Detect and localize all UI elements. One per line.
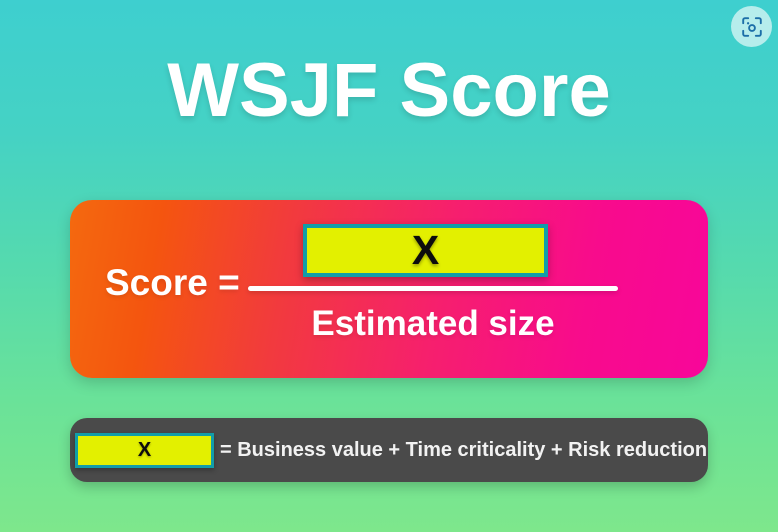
legend-bar: X = Business value + Time criticality + … bbox=[70, 418, 708, 482]
legend-definition: = Business value + Time criticality + Ri… bbox=[220, 437, 707, 463]
wsjf-formula-card: Score = X Estimated size bbox=[70, 200, 708, 378]
legend-highlight-box: X bbox=[75, 433, 214, 468]
lens-scan-button[interactable] bbox=[731, 6, 772, 47]
page-title: WSJF Score bbox=[0, 48, 778, 134]
lens-scan-icon bbox=[740, 15, 764, 39]
fraction-bar bbox=[248, 286, 618, 291]
legend-symbol: X bbox=[138, 440, 151, 460]
numerator-highlight-box: X bbox=[303, 224, 548, 277]
score-label: Score = bbox=[105, 260, 240, 306]
denominator-label: Estimated size bbox=[248, 302, 618, 346]
numerator-value: X bbox=[412, 230, 439, 271]
